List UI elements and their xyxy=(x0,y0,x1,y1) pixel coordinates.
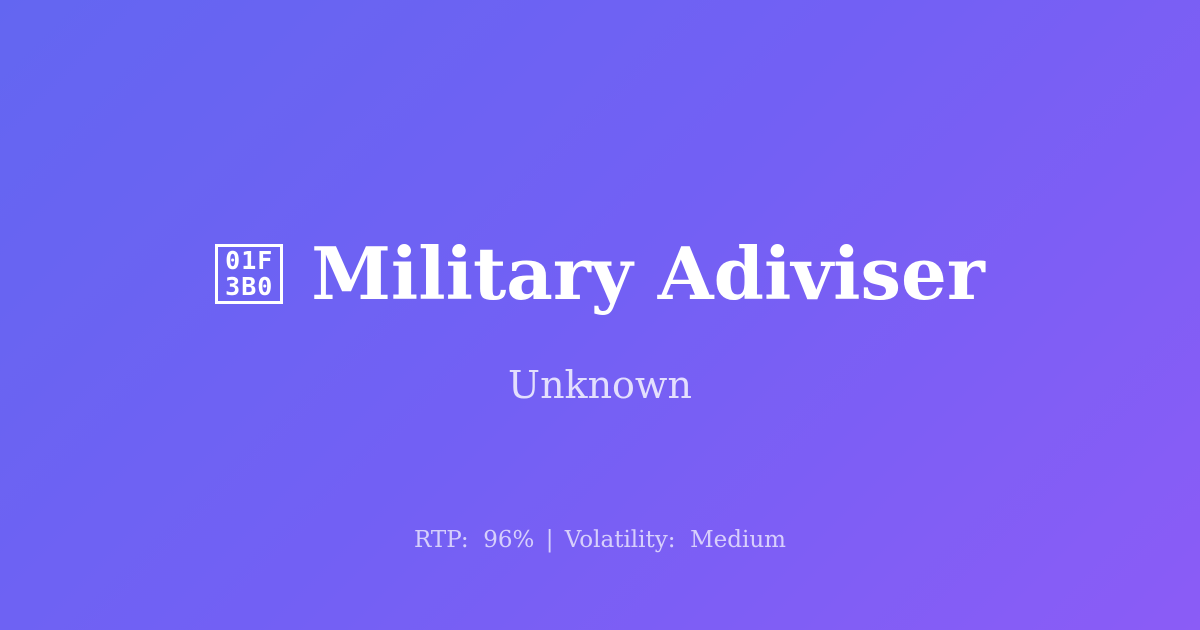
game-meta-line: RTP: 96% | Volatility: Medium xyxy=(0,529,1200,552)
volatility-value: Medium xyxy=(690,527,786,553)
title-row: 01F 3B0 Military Adiviser xyxy=(0,232,1200,316)
slot-machine-emoji-tofu-icon: 01F 3B0 xyxy=(215,244,283,304)
tofu-codepoint-line-bottom: 3B0 xyxy=(225,274,273,301)
tofu-codepoint-line-top: 01F xyxy=(225,248,273,275)
rtp-value: 96% xyxy=(483,527,534,553)
rtp-label: RTP: xyxy=(414,527,469,553)
og-preview-card: 01F 3B0 Military Adiviser Unknown RTP: 9… xyxy=(0,0,1200,630)
page-subtitle: Unknown xyxy=(0,366,1200,404)
volatility-label: Volatility: xyxy=(565,527,676,553)
page-title: Military Adiviser xyxy=(311,238,985,310)
meta-separator: | xyxy=(542,527,558,553)
